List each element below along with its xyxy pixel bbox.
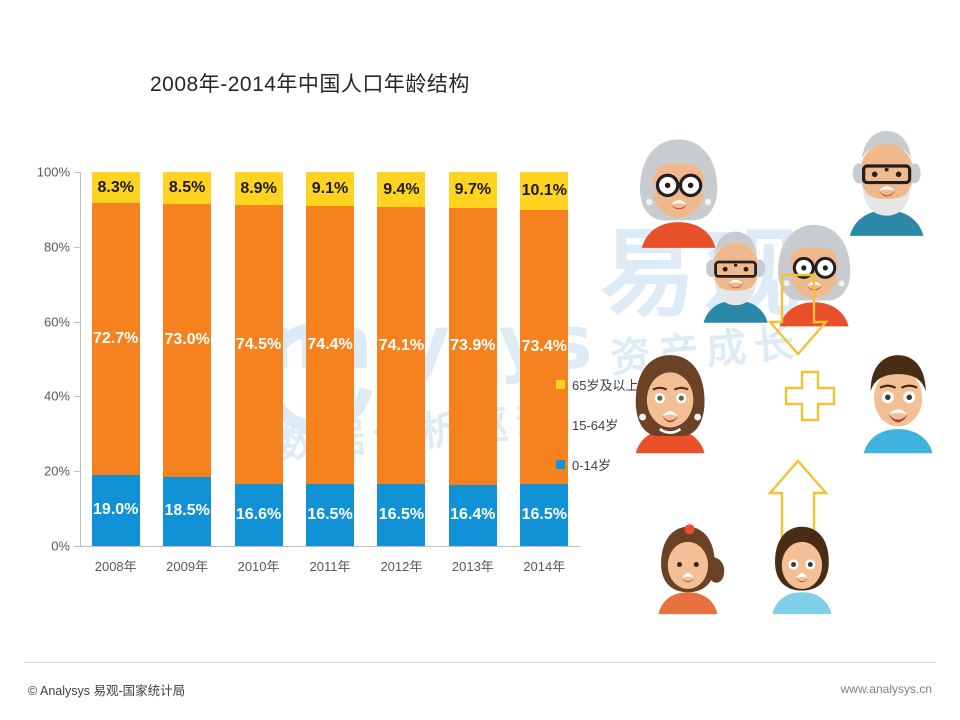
bar-segment[interactable]: 9.7% — [449, 172, 497, 208]
legend-label: 15-64岁 — [572, 415, 618, 434]
y-axis-tick-label: 100% — [14, 165, 70, 180]
bar-segment[interactable]: 73.0% — [163, 204, 211, 477]
bar-segment[interactable]: 74.5% — [235, 205, 283, 484]
bar-segment[interactable]: 10.1% — [520, 172, 568, 210]
bar-segment[interactable]: 19.0% — [92, 475, 140, 546]
illustration-elderly-1 — [640, 139, 717, 248]
legend-swatch-icon — [556, 420, 565, 429]
legend-swatch-icon — [556, 380, 565, 389]
y-axis-tick-label: 80% — [14, 239, 70, 254]
bar-segment-label: 74.1% — [379, 338, 424, 354]
footer-source: © Analysys 易观-国家统计局 — [28, 680, 185, 699]
plot-area: 19.0%72.7%8.3%18.5%73.0%8.5%16.6%74.5%8.… — [80, 172, 580, 546]
y-axis-tick-label: 40% — [14, 389, 70, 404]
bar-segment[interactable]: 16.6% — [235, 484, 283, 546]
legend-label: 65岁及以上 — [572, 375, 638, 394]
bar-segment-label: 8.9% — [240, 181, 276, 197]
bar-column[interactable]: 16.5%74.4%9.1% — [306, 172, 354, 546]
footer-divider — [24, 662, 936, 663]
bar-segment[interactable]: 8.9% — [235, 172, 283, 205]
bar-segment[interactable]: 74.4% — [306, 206, 354, 484]
bar-segment[interactable]: 9.1% — [306, 172, 354, 206]
bar-segment[interactable]: 16.5% — [520, 484, 568, 546]
bar-segment-label: 73.0% — [164, 332, 209, 348]
bar-segment-label: 8.5% — [169, 180, 205, 196]
chart-legend: 65岁及以上15-64岁0-14岁 — [556, 370, 638, 490]
bar-segment-label: 74.5% — [236, 337, 281, 353]
bar-segment[interactable]: 73.9% — [449, 208, 497, 484]
bar-segment[interactable]: 16.4% — [449, 485, 497, 546]
bar-segment-label: 10.1% — [522, 183, 567, 199]
legend-item[interactable]: 65岁及以上 — [556, 370, 638, 398]
bar-segment-label: 16.5% — [522, 507, 567, 523]
bar-segment[interactable]: 9.4% — [377, 172, 425, 207]
illustration-child-boy — [773, 527, 832, 614]
illustration-elderly-4 — [850, 131, 924, 236]
population-illustration — [620, 110, 960, 650]
bar-segment-label: 16.5% — [379, 507, 424, 523]
illustration-child-girl — [659, 524, 725, 614]
bar-segment[interactable]: 18.5% — [163, 477, 211, 546]
bar-segment[interactable]: 16.5% — [306, 484, 354, 546]
y-axis-tick-mark — [74, 546, 80, 547]
stacked-bar-chart: 0%20%40%60%80%100% 19.0%72.7%8.3%18.5%73… — [0, 0, 620, 600]
y-axis-tick-label: 60% — [14, 314, 70, 329]
legend-item[interactable]: 15-64岁 — [556, 410, 638, 438]
bar-segment-label: 9.1% — [312, 181, 348, 197]
bar-segment-label: 16.6% — [236, 507, 281, 523]
bar-column[interactable]: 18.5%73.0%8.5% — [163, 172, 211, 546]
slide-canvas: nalysys 易观 数据分析驱动 资产成长 2008年-2014年中国人口年龄… — [0, 0, 960, 720]
x-axis-line — [80, 546, 580, 547]
bar-segment[interactable]: 8.5% — [163, 172, 211, 204]
y-axis-tick-label: 20% — [14, 464, 70, 479]
bar-segment-label: 16.5% — [307, 507, 352, 523]
bar-segment-label: 73.9% — [450, 338, 495, 354]
bar-segment-label: 74.4% — [307, 337, 352, 353]
bar-segment-label: 72.7% — [93, 331, 138, 347]
bar-column[interactable]: 16.4%73.9%9.7% — [449, 172, 497, 546]
bar-segment-label: 19.0% — [93, 502, 138, 518]
legend-label: 0-14岁 — [572, 455, 611, 474]
legend-item[interactable]: 0-14岁 — [556, 450, 638, 478]
footer-website[interactable]: www.analysys.cn — [841, 682, 932, 696]
bar-segment-label: 9.4% — [383, 182, 419, 198]
y-axis-tick-label: 0% — [14, 539, 70, 554]
bar-segment[interactable]: 72.7% — [92, 203, 140, 475]
legend-swatch-icon — [556, 460, 565, 469]
plus-icon — [786, 372, 834, 420]
bar-segment-label: 8.3% — [97, 180, 133, 196]
bar-segment[interactable]: 16.5% — [377, 484, 425, 546]
bar-column[interactable]: 19.0%72.7%8.3% — [92, 172, 140, 546]
bar-column[interactable]: 16.5%74.1%9.4% — [377, 172, 425, 546]
bar-segment-label: 73.4% — [522, 339, 567, 355]
bar-segment-label: 9.7% — [455, 182, 491, 198]
bar-column[interactable]: 16.6%74.5%8.9% — [235, 172, 283, 546]
illustration-adult-male — [864, 355, 933, 453]
bar-segment[interactable]: 74.1% — [377, 207, 425, 484]
x-axis-tick-label: 2014年 — [499, 556, 589, 575]
illustration-adult-female — [636, 355, 705, 453]
bar-segment-label: 18.5% — [164, 503, 209, 519]
bar-segment-label: 16.4% — [450, 507, 495, 523]
bar-segment[interactable]: 8.3% — [92, 172, 140, 203]
